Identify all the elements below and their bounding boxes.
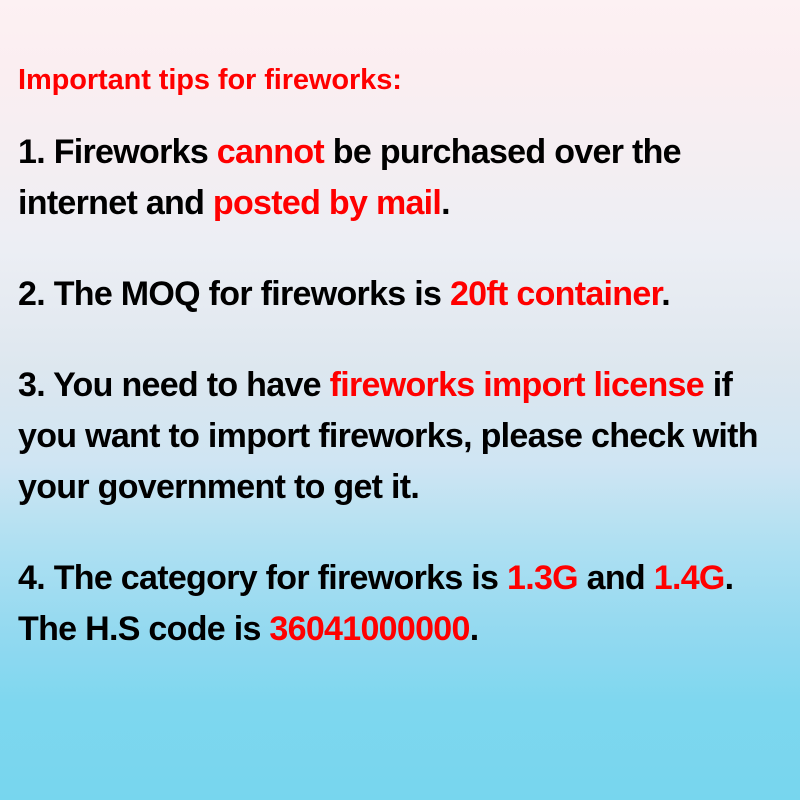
tip-highlight: cannot <box>217 133 324 171</box>
tip-item-4: 4. The category for fireworks is 1.3G an… <box>18 553 782 655</box>
tips-content: Important tips for fireworks: 1. Firewor… <box>18 62 782 655</box>
tip-number: 3. <box>18 366 45 404</box>
tip-text: Fireworks <box>45 133 217 171</box>
tip-item-3: 3. You need to have fireworks import lic… <box>18 360 782 513</box>
tip-text: . <box>470 610 479 648</box>
tip-text: . <box>661 275 670 313</box>
tip-text: The category for fireworks is <box>45 559 507 597</box>
tip-highlight: posted by mail <box>213 184 441 222</box>
tip-highlight: 20ft container <box>450 275 661 313</box>
tip-number: 4. <box>18 559 45 597</box>
tip-text: You need to have <box>45 366 330 404</box>
tip-text: . <box>441 184 450 222</box>
fireworks-tips-card: Important tips for fireworks: 1. Firewor… <box>0 0 800 800</box>
tip-highlight: 1.4G <box>654 559 725 597</box>
page-title: Important tips for fireworks: <box>18 62 782 98</box>
tip-text: The MOQ for fireworks is <box>45 275 450 313</box>
tip-highlight: 1.3G <box>507 559 578 597</box>
tip-highlight: fireworks import license <box>330 366 704 404</box>
tip-item-1: 1. Fireworks cannot be purchased over th… <box>18 127 782 229</box>
tip-number: 2. <box>18 275 45 313</box>
tip-item-2: 2. The MOQ for fireworks is 20ft contain… <box>18 269 782 320</box>
tip-highlight: 36041000000 <box>269 610 469 648</box>
tip-text: and <box>578 559 654 597</box>
tip-number: 1. <box>18 133 45 171</box>
